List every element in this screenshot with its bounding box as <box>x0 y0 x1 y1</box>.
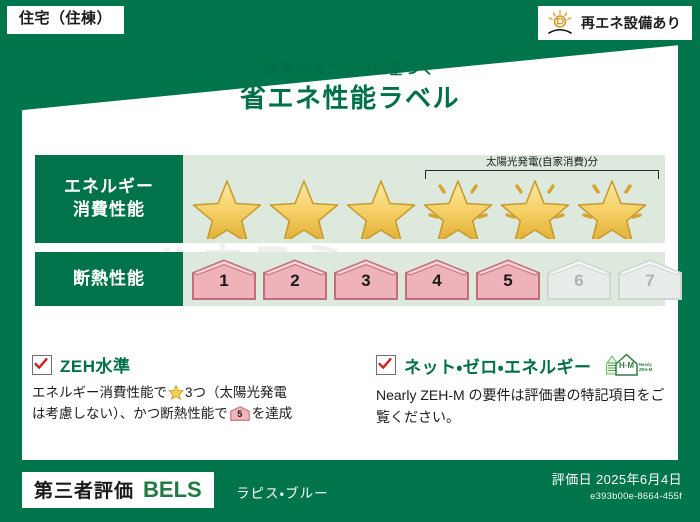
nearly-zeh-m-logo-icon: H·M Nearly ZEH-M <box>602 352 654 378</box>
building-type-tag: 住宅（住棟） <box>7 6 124 34</box>
energy-star-base <box>266 173 342 239</box>
net-zero-criteria-header: ネット・ゼロ・エネルギー H·M Nearly ZEH-M <box>376 352 676 378</box>
zeh-desc-part1: エネルギー消費性能で <box>32 385 167 400</box>
insulation-grade-value: 3 <box>333 272 399 289</box>
insulation-grade-value: 5 <box>475 272 541 289</box>
insulation-grade-active: 2 <box>262 259 328 301</box>
footer-meta: 評価日 2025年6月4日 e393b00e-8664-455f <box>552 472 682 503</box>
zeh-criteria-description: エネルギー消費性能で3つ（太陽光発電は考慮しない）、かつ断熱性能で5を達成 <box>32 383 354 425</box>
insulation-grade-active: 5 <box>475 259 541 301</box>
energy-star-solar <box>420 173 496 239</box>
net-zero-criteria-description: Nearly ZEH-M の要件は評価書の特記項目をご覧ください。 <box>376 384 676 429</box>
net-zero-checkbox[interactable] <box>376 355 396 375</box>
bels-energy-label: ハウスミ 住宅（住棟） 再エネ設備あり 建築物省エネ法に基づく <box>0 0 700 522</box>
insulation-grade-active: 4 <box>404 259 470 301</box>
insulation-grade-scale: 1 2 3 4 5 6 7 <box>191 258 661 302</box>
energy-star-rating <box>189 173 661 239</box>
energy-label-line2: 消費性能 <box>73 199 145 222</box>
insulation-grade-value: 1 <box>191 272 257 289</box>
zeh-checkbox[interactable] <box>32 355 52 375</box>
insulation-performance-label: 断熱性能 <box>35 252 183 306</box>
zeh-desc-part3: を達成 <box>252 406 293 421</box>
label-title-block: 建築物省エネ法に基づく 省エネ性能ラベル <box>0 62 700 114</box>
label-footer: 第三者評価 BELS ラピス・ブルー 評価日 2025年6月4日 e393b00… <box>0 460 700 522</box>
insulation-grade-value: 6 <box>546 272 612 289</box>
renewable-equipment-badge: 再エネ設備あり <box>538 6 692 40</box>
insulation-grade-value: 2 <box>262 272 328 289</box>
solar-annotation-label: 太陽光発電(自家消費)分 <box>425 157 659 169</box>
net-zero-criteria-title: ネット・ゼロ・エネルギー <box>404 353 592 378</box>
insulation-grade-inactive: 6 <box>546 259 612 301</box>
certificate-uid: e393b00e-8664-455f <box>552 491 682 503</box>
zeh-criteria-header: ZEH水準 <box>32 352 354 377</box>
insulation-performance-body: 1 2 3 4 5 6 7 <box>183 252 665 306</box>
insulation-grade-value: 4 <box>404 272 470 289</box>
building-name: ラピス・ブルー <box>236 482 329 502</box>
check-mark-icon <box>378 357 392 371</box>
net-zero-criteria-section: ネット・ゼロ・エネルギー H·M Nearly ZEH-M <box>376 352 676 429</box>
svg-text:ZEH-M: ZEH-M <box>639 367 653 372</box>
inline-grade-badge: 5 <box>230 406 250 421</box>
energy-performance-label: エネルギー 消費性能 <box>35 155 183 243</box>
inline-grade-value: 5 <box>230 410 250 419</box>
zeh-desc-starcount: 3つ（太陽光発電 <box>185 385 287 400</box>
inline-star-icon <box>168 385 184 400</box>
energy-performance-body: 太陽光発電(自家消費)分 <box>183 155 665 243</box>
third-party-eval-label: 第三者評価 <box>34 476 134 503</box>
insulation-grade-inactive: 7 <box>617 259 683 301</box>
sun-solar-icon <box>546 10 574 36</box>
energy-label-line1: エネルギー <box>64 176 154 199</box>
title-main: 省エネ性能ラベル <box>0 84 700 114</box>
energy-star-solar <box>497 173 573 239</box>
insulation-grade-active: 3 <box>333 259 399 301</box>
performance-rows: エネルギー 消費性能 太陽光発電(自家消費)分 <box>35 155 665 315</box>
svg-text:H·M: H·M <box>619 361 634 370</box>
insulation-performance-row: 断熱性能 1 2 3 4 5 <box>35 252 665 306</box>
insulation-label-text: 断熱性能 <box>73 268 145 291</box>
bels-logo-text: BELS <box>143 477 202 503</box>
bels-certification-box: 第三者評価 BELS <box>22 472 214 508</box>
evaluation-date: 評価日 2025年6月4日 <box>552 472 682 489</box>
zeh-criteria-section: ZEH水準 エネルギー消費性能で3つ（太陽光発電は考慮しない）、かつ断熱性能で5… <box>32 352 354 429</box>
energy-star-base <box>343 173 419 239</box>
zeh-criteria-title: ZEH水準 <box>60 352 131 377</box>
zeh-desc-part2: は考慮しない）、かつ断熱性能で <box>32 406 228 421</box>
check-mark-icon <box>34 357 48 371</box>
criteria-sections: ZEH水準 エネルギー消費性能で3つ（太陽光発電は考慮しない）、かつ断熱性能で5… <box>32 352 676 429</box>
title-subtitle: 建築物省エネ法に基づく <box>0 62 700 79</box>
energy-performance-row: エネルギー 消費性能 太陽光発電(自家消費)分 <box>35 155 665 243</box>
insulation-grade-active: 1 <box>191 259 257 301</box>
insulation-grade-value: 7 <box>617 272 683 289</box>
energy-star-solar <box>574 173 650 239</box>
renewable-badge-label: 再エネ設備あり <box>581 13 681 33</box>
energy-star-base <box>189 173 265 239</box>
